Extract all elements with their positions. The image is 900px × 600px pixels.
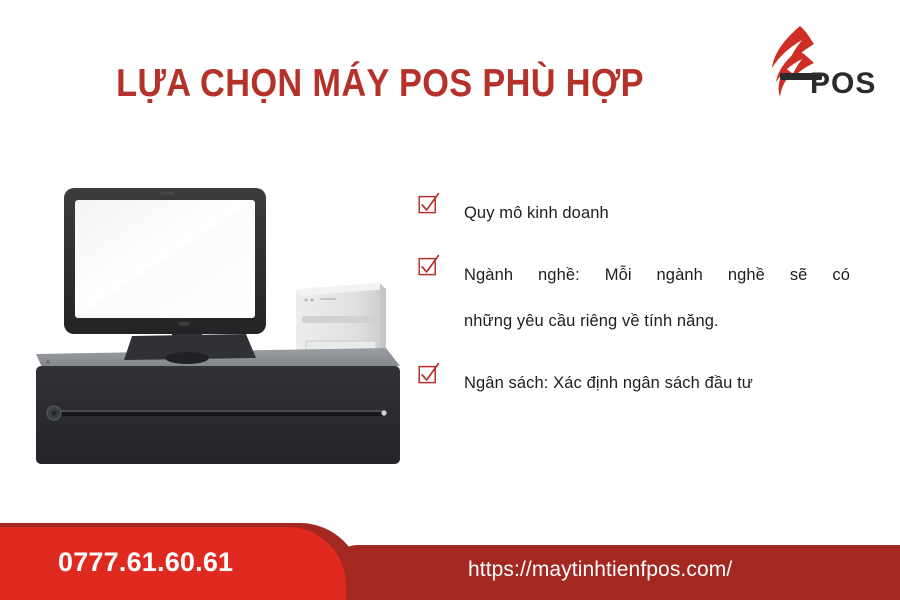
checkbox-checked-icon (418, 254, 440, 278)
list-item-label: Ngân sách: Xác định ngân sách đầu tư (464, 360, 850, 406)
footer-website-url[interactable]: https://maytinhtienfpos.com/ (468, 558, 732, 582)
checklist: Quy mô kinh doanh Ngành nghề: Mỗi ngành … (418, 190, 850, 422)
monitor-screen (75, 200, 255, 318)
checkbox-checked-icon (418, 192, 440, 216)
list-item-line: Ngành nghề: Mỗi ngành nghề sẽ có (464, 252, 850, 298)
list-item-label: Ngành nghề: Mỗi ngành nghề sẽ có những y… (464, 252, 850, 344)
footer-phone[interactable]: 0777.61.60.61 (58, 547, 233, 578)
poster-canvas: POS LỰA CHỌN MÁY POS PHÙ HỢP (0, 0, 900, 600)
fpos-logo: POS (752, 22, 884, 100)
list-item-label: Quy mô kinh doanh (464, 190, 850, 236)
pos-system-illustration (28, 186, 408, 466)
page-title: LỰA CHỌN MÁY POS PHÙ HỢP (46, 62, 715, 106)
list-item: Ngân sách: Xác định ngân sách đầu tư (418, 360, 850, 406)
logo-text: POS (810, 67, 876, 100)
touchscreen-monitor (64, 188, 266, 334)
checkbox-checked-icon (418, 362, 440, 386)
list-item: Ngành nghề: Mỗi ngành nghề sẽ có những y… (418, 252, 850, 344)
list-item: Quy mô kinh doanh (418, 190, 850, 236)
list-item-line: những yêu cầu riêng về tính năng. (464, 298, 850, 344)
drawer-led (381, 410, 386, 415)
cash-drawer (36, 348, 400, 464)
